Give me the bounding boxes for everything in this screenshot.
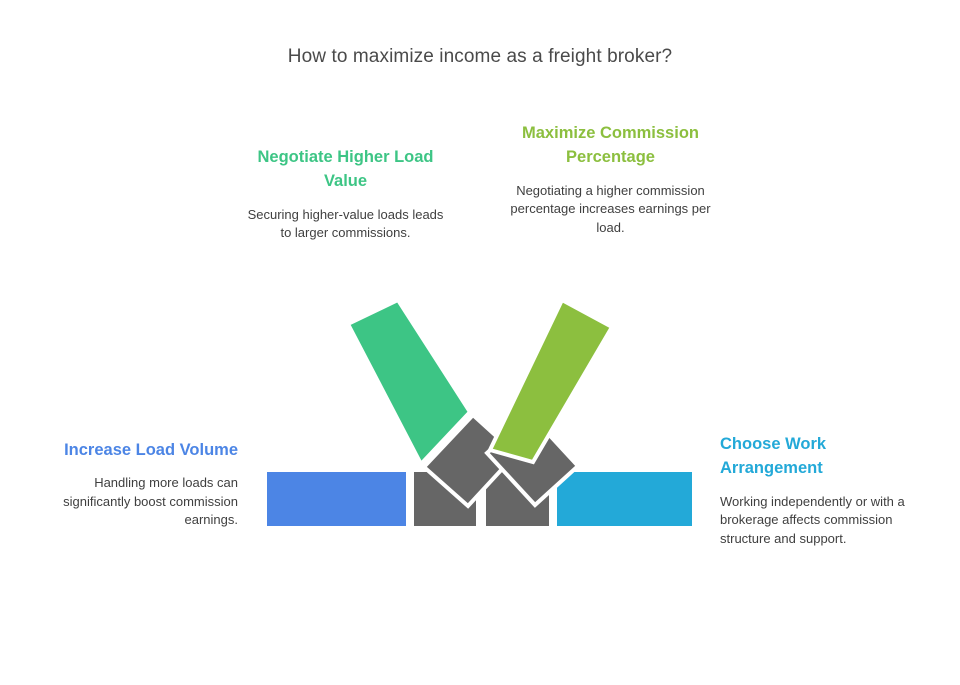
page-title: How to maximize income as a freight brok… — [0, 46, 960, 68]
callout-choose-work-arrangement-heading: Choose Work Arrangement — [720, 432, 925, 481]
callout-increase-load-volume: Increase Load Volume Handling more loads… — [38, 438, 238, 530]
callout-choose-work-arrangement-body: Working independently or with a brokerag… — [720, 493, 925, 548]
bar-choose-work-arrangement-color — [555, 470, 694, 528]
callout-increase-load-volume-body: Handling more loads can significantly bo… — [38, 474, 238, 529]
callout-maximize-commission-heading: Maximize Commission Percentage — [508, 121, 713, 170]
bar-negotiate-load-value — [348, 300, 516, 506]
bar-maximize-commission — [487, 300, 612, 505]
callout-negotiate-load-value: Negotiate Higher Load Value Securing hig… — [243, 145, 448, 243]
infographic-canvas: How to maximize income as a freight brok… — [0, 0, 960, 685]
bar-maximize-commission-color — [490, 300, 612, 462]
bar-negotiate-load-value-gray — [424, 415, 516, 506]
bar-choose-work-arrangement-gray — [484, 470, 551, 528]
bar-negotiate-load-value-color — [348, 300, 470, 464]
bar-maximize-commission-gray — [487, 414, 578, 505]
callout-maximize-commission: Maximize Commission Percentage Negotiati… — [508, 121, 713, 237]
callout-maximize-commission-body: Negotiating a higher commission percenta… — [508, 182, 713, 237]
bar-increase-load-volume — [265, 470, 478, 528]
callout-negotiate-load-value-heading: Negotiate Higher Load Value — [243, 145, 448, 194]
callout-increase-load-volume-heading: Increase Load Volume — [38, 438, 238, 462]
callout-negotiate-load-value-body: Securing higher-value loads leads to lar… — [243, 206, 448, 243]
radial-fan-diagram — [0, 0, 960, 685]
callout-choose-work-arrangement: Choose Work Arrangement Working independ… — [720, 432, 925, 548]
bar-increase-load-volume-color — [265, 470, 408, 528]
bar-increase-load-volume-gray — [412, 470, 478, 528]
bar-choose-work-arrangement — [484, 470, 694, 528]
